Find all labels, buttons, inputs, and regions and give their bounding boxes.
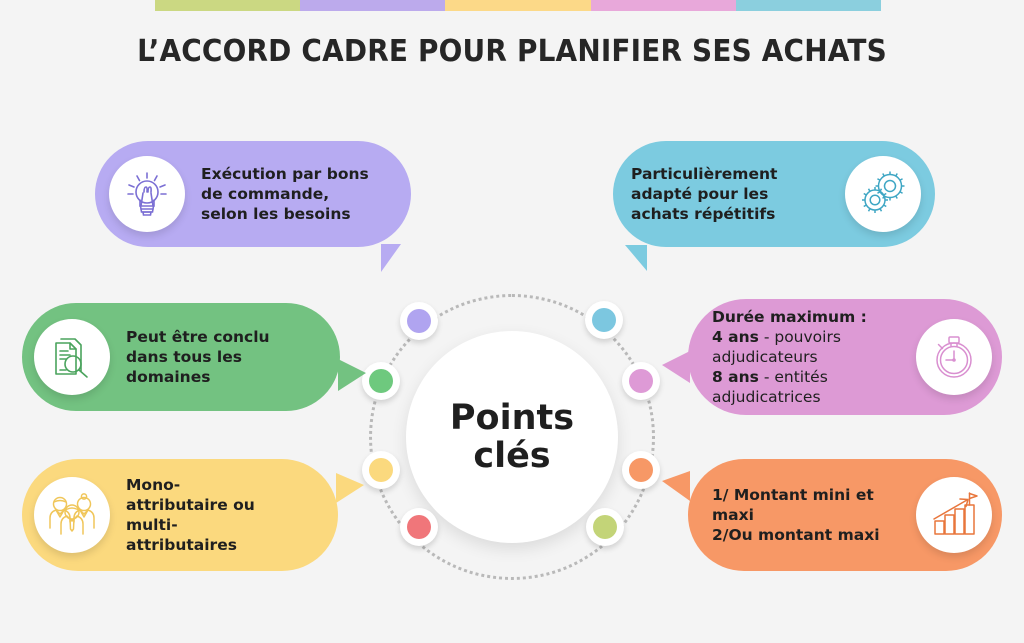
- node-dot-purple: [407, 309, 431, 333]
- team-icon: [34, 477, 110, 553]
- bubble-achats-repetitifs[interactable]: Particulièrement adapté pour les achats …: [613, 141, 935, 247]
- node-yellow[interactable]: [362, 451, 400, 489]
- bubble-text-line: 4 ans - pouvoirs: [712, 327, 902, 347]
- bubble-text-line: dans tous les: [126, 347, 270, 367]
- bubble-text: Exécution par bons de commande, selon le…: [201, 164, 369, 224]
- bubble-text-line: multi-: [126, 515, 255, 535]
- bubble-text-bold: 8 ans: [712, 368, 759, 386]
- bubble-text-heading: Durée maximum :: [712, 307, 902, 327]
- growth-chart-icon: [916, 477, 992, 553]
- bubble-tail: [381, 244, 401, 272]
- bubble-tail: [662, 471, 690, 501]
- bubble-text-line: selon les besoins: [201, 204, 369, 224]
- bubble-text-line: 1/ Montant mini et: [712, 485, 902, 505]
- center-hub-line1: Points: [450, 399, 574, 438]
- bubble-text-line: domaines: [126, 367, 270, 387]
- bubble-text-line: attributaires: [126, 535, 255, 555]
- node-dot-yellow: [369, 458, 393, 482]
- bubble-text-line: adapté pour les: [631, 184, 831, 204]
- bubble-text-line: Particulièrement: [631, 164, 831, 184]
- node-blue[interactable]: [585, 301, 623, 339]
- node-dot-blue: [592, 308, 616, 332]
- bubble-text-bold: 4 ans: [712, 328, 759, 346]
- bubble-text-rest: - entités: [759, 368, 828, 386]
- node-purple[interactable]: [400, 302, 438, 340]
- node-dot-lime: [593, 515, 617, 539]
- topbar-segment-1: [155, 0, 300, 11]
- bubble-text-rest: - pouvoirs: [759, 328, 841, 346]
- bubble-text-line: Exécution par bons: [201, 164, 369, 184]
- topbar-segment-2: [300, 0, 445, 11]
- document-search-icon: [34, 319, 110, 395]
- bubble-text: 1/ Montant mini et maxi 2/Ou montant max…: [712, 485, 902, 545]
- bubble-text: Particulièrement adapté pour les achats …: [631, 164, 831, 224]
- bubble-tail: [336, 473, 364, 503]
- bubble-text-line: adjudicatrices: [712, 387, 902, 407]
- bubble-text-line: maxi: [712, 505, 902, 525]
- node-red[interactable]: [400, 508, 438, 546]
- node-dot-orange: [629, 458, 653, 482]
- stopwatch-icon: [916, 319, 992, 395]
- page-title: L’ACCORD CADRE POUR PLANIFIER SES ACHATS: [36, 34, 988, 69]
- bubble-text-line: Mono-: [126, 475, 255, 495]
- bubble-montant-mini-maxi[interactable]: 1/ Montant mini et maxi 2/Ou montant max…: [688, 459, 1002, 571]
- bubble-tail: [625, 245, 647, 271]
- center-hub-line2: clés: [450, 437, 574, 476]
- node-lime[interactable]: [586, 508, 624, 546]
- bubble-text-line: 8 ans - entités: [712, 367, 902, 387]
- bubble-text-line: Peut être conclu: [126, 327, 270, 347]
- node-green[interactable]: [362, 362, 400, 400]
- node-dot-red: [407, 515, 431, 539]
- gears-icon: [845, 156, 921, 232]
- bubble-text: Peut être conclu dans tous les domaines: [126, 327, 270, 387]
- node-pink[interactable]: [622, 362, 660, 400]
- node-dot-pink: [629, 369, 653, 393]
- top-color-bar: [155, 0, 881, 11]
- bubble-duree-maximum[interactable]: Durée maximum : 4 ans - pouvoirs adjudic…: [688, 299, 1002, 415]
- bubble-text-line: attributaire ou: [126, 495, 255, 515]
- bubble-mono-multi-attributaires[interactable]: Mono- attributaire ou multi- attributair…: [22, 459, 338, 571]
- bubble-tous-domaines[interactable]: Peut être conclu dans tous les domaines: [22, 303, 340, 411]
- bubble-text: Durée maximum : 4 ans - pouvoirs adjudic…: [712, 307, 902, 408]
- bubble-tail: [662, 351, 690, 383]
- bubble-text-line: achats répétitifs: [631, 204, 831, 224]
- bubble-execution-bons-commande[interactable]: Exécution par bons de commande, selon le…: [95, 141, 411, 247]
- node-orange[interactable]: [622, 451, 660, 489]
- topbar-segment-4: [591, 0, 736, 11]
- bubble-text-line: adjudicateurs: [712, 347, 902, 367]
- bubble-text-line: de commande,: [201, 184, 369, 204]
- node-dot-green: [369, 369, 393, 393]
- bubble-tail: [338, 359, 366, 391]
- lightbulb-icon: [109, 156, 185, 232]
- topbar-segment-5: [736, 0, 881, 11]
- bubble-text: Mono- attributaire ou multi- attributair…: [126, 475, 255, 556]
- center-hub: Points clés: [406, 331, 618, 543]
- topbar-segment-3: [445, 0, 590, 11]
- bubble-text-line: 2/Ou montant maxi: [712, 525, 902, 545]
